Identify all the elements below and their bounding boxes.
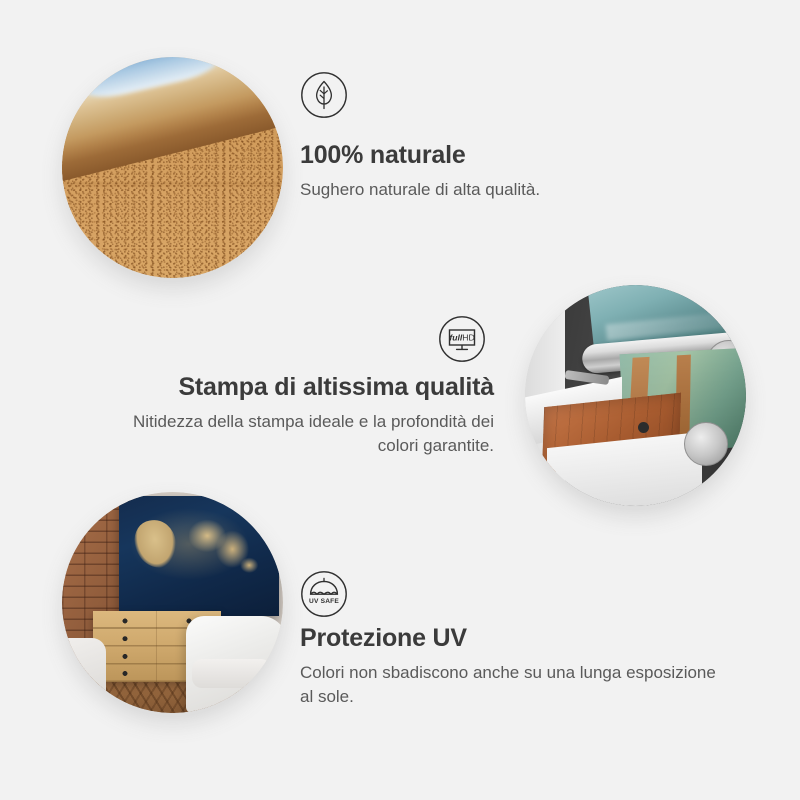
uv-safe-label: UV SAFE [309, 598, 339, 605]
cork-photo-inner [62, 57, 283, 278]
press-knob [638, 422, 649, 433]
room-armchair-left [62, 638, 106, 700]
leaf-icon [300, 71, 348, 119]
feature-text-natural: 100% naturale Sughero naturale di alta q… [300, 141, 720, 202]
fullhd-monitor-icon: fullHD [438, 315, 486, 363]
feature-text-uv: Protezione UV Colori non sbadiscono anch… [300, 624, 720, 710]
feature-infographic: 100% naturale Sughero naturale di alta q… [0, 0, 800, 800]
feature-title: Stampa di altissima qualità [100, 373, 494, 402]
feature-description: Nitidezza della stampa ideale e la profo… [100, 410, 494, 459]
svg-text:fullHD: fullHD [449, 333, 474, 343]
feature-title: Protezione UV [300, 624, 720, 653]
room-photo-inner [62, 492, 283, 713]
feature-description: Sughero naturale di alta qualità. [300, 178, 720, 203]
interior-room-photo [62, 492, 283, 713]
feature-text-print: Stampa di altissima qualità Nitidezza de… [100, 373, 494, 459]
press-wheel-lower [684, 422, 728, 466]
feature-description: Colori non sbadiscono anche su una lunga… [300, 661, 720, 710]
uv-safe-umbrella-icon: UV SAFE [300, 570, 348, 618]
printing-machine-photo [525, 285, 746, 506]
room-world-map-artwork [119, 496, 278, 615]
feature-title: 100% naturale [300, 141, 720, 170]
printing-photo-inner [525, 285, 746, 506]
cork-texture-photo [62, 57, 283, 278]
room-armchair-white [186, 616, 283, 713]
